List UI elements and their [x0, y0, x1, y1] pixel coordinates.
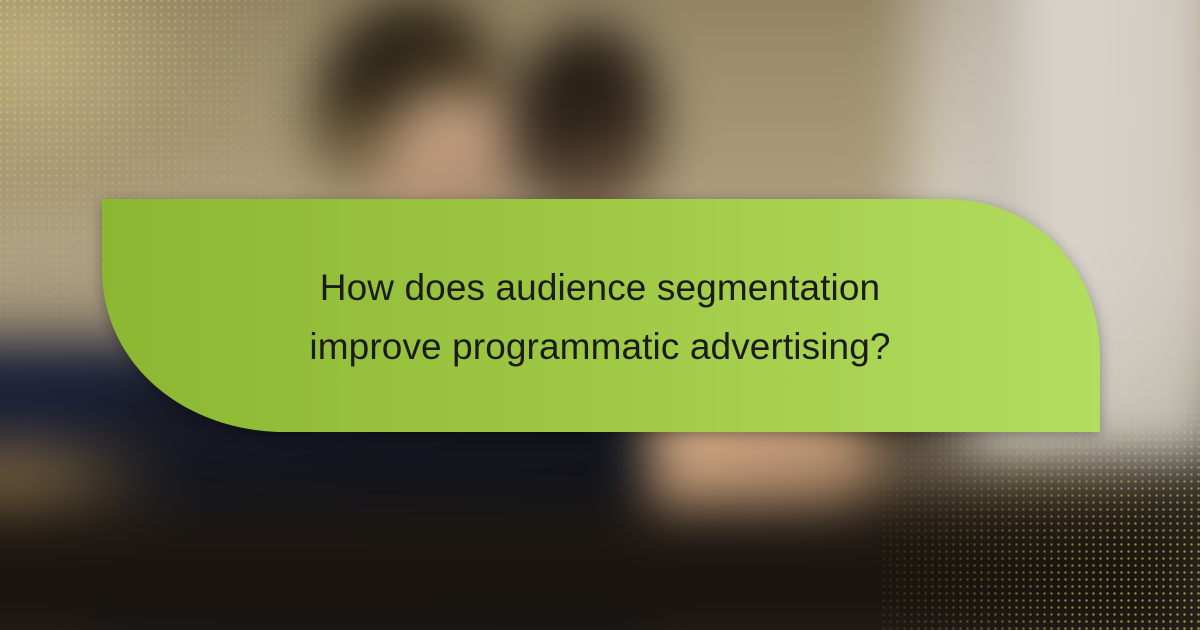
- warm-light-patch: [0, 0, 240, 230]
- question-line-2: improve programmatic advertising?: [309, 321, 890, 374]
- question-banner: How does audience segmentation improve p…: [100, 197, 1100, 434]
- question-line-1: How does audience segmentation: [320, 262, 880, 315]
- question-text-block: How does audience segmentation improve p…: [100, 197, 1100, 434]
- floor-band: [0, 506, 1180, 626]
- social-share-card: How does audience segmentation improve p…: [0, 0, 1200, 630]
